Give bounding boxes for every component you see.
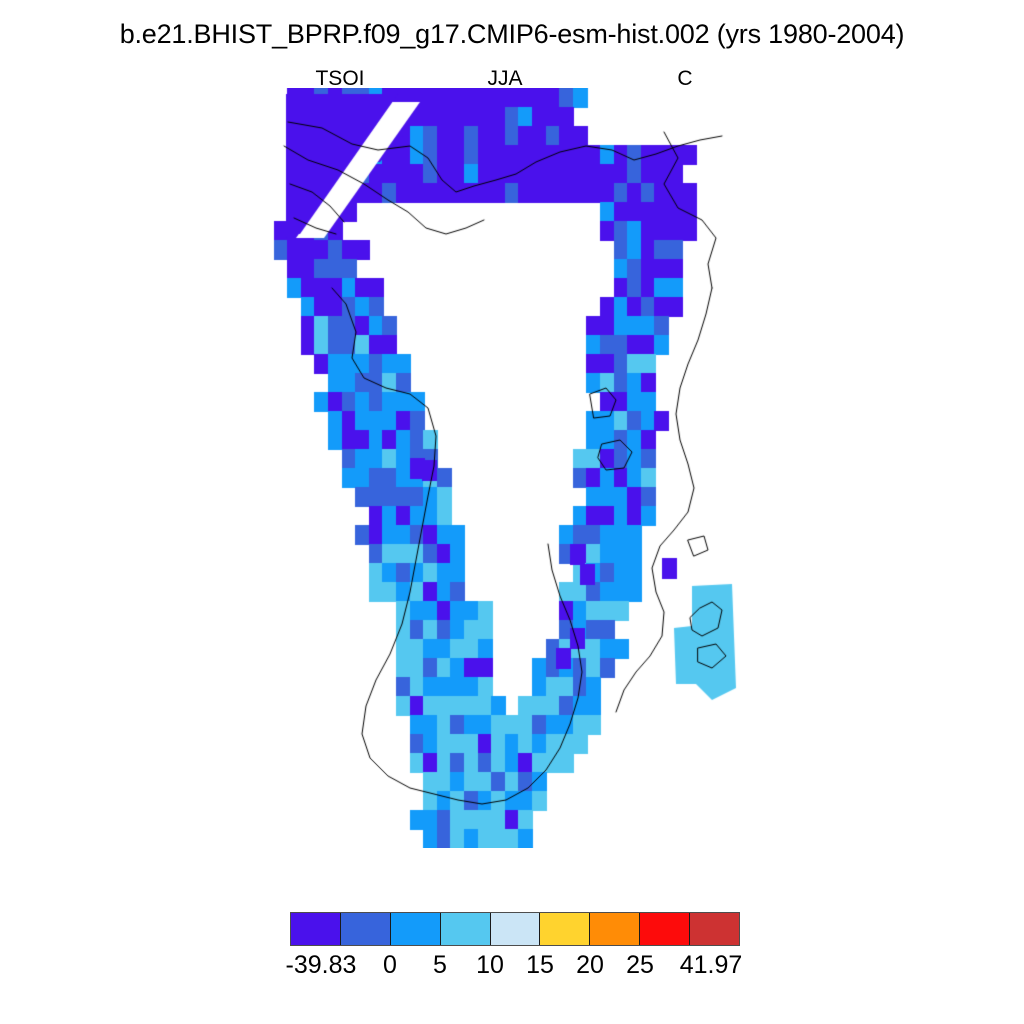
colorbar-cell-3 (441, 913, 491, 945)
colorbar-cell-7 (640, 913, 690, 945)
colorbar-cell-4 (491, 913, 541, 945)
colorbar-cell-0 (291, 913, 341, 945)
gridded-map-heatmap (260, 88, 780, 848)
colorbar-cell-6 (590, 913, 640, 945)
colorbar-cell-2 (391, 913, 441, 945)
colorbar-cell-1 (341, 913, 391, 945)
colorbar: -39.83051015202541.97 (0, 912, 1024, 992)
page-title: b.e21.BHIST_BPRP.f09_g17.CMIP6-esm-hist.… (0, 18, 1024, 50)
colorbar-strip (290, 912, 740, 946)
colorbar-label-7: 41.97 (651, 950, 771, 980)
colorbar-cell-5 (540, 913, 590, 945)
colorbar-cell-8 (690, 913, 739, 945)
colorbar-tick-labels: -39.83051015202541.97 (0, 950, 1024, 984)
map-plot-area (260, 88, 780, 848)
